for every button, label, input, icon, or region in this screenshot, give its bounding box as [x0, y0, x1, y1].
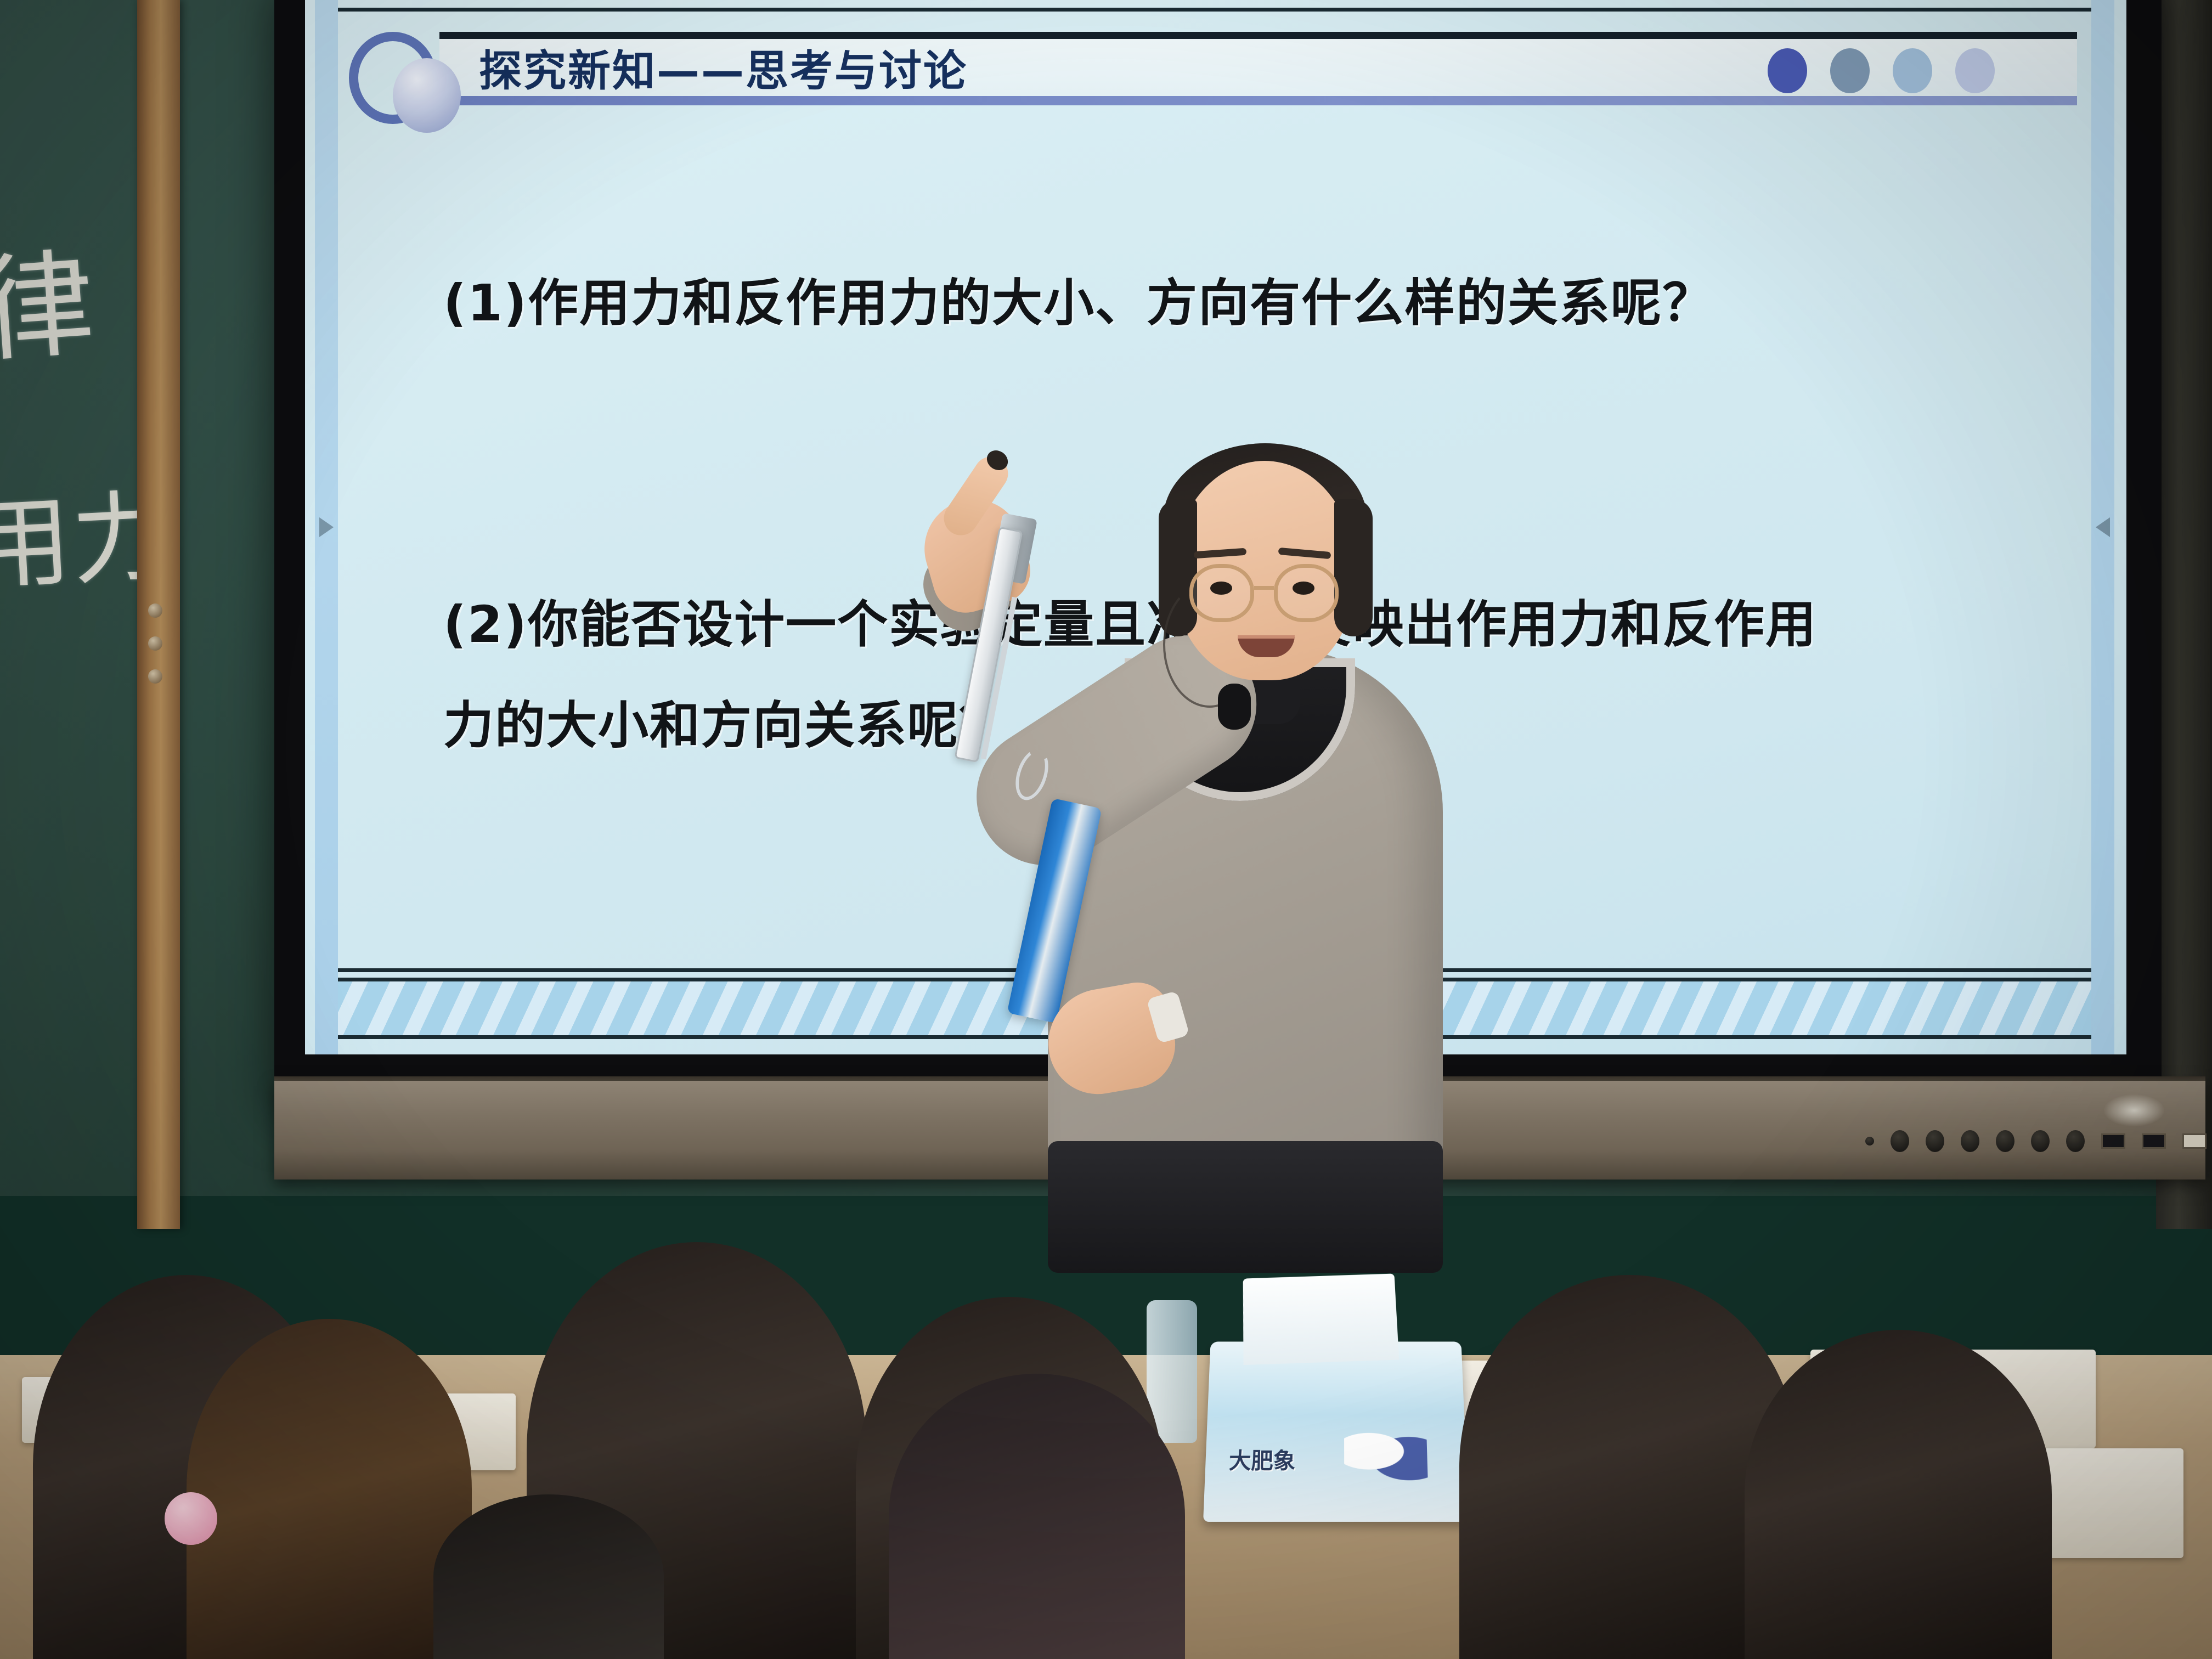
board-frame-right [2156, 0, 2212, 1229]
tissue-sheet [1243, 1273, 1400, 1365]
triangle-left-icon [2096, 517, 2110, 537]
teacher-hair-right [1334, 499, 1373, 636]
tissue-box[interactable]: 大肥象 [1203, 1341, 1469, 1521]
glasses-bridge [1254, 586, 1274, 590]
slide-nav-right[interactable] [2091, 0, 2114, 1054]
clip-microphone-icon [1218, 684, 1251, 730]
student-hairband [165, 1492, 217, 1545]
title-dot-3 [1893, 48, 1932, 93]
title-dot-4 [1955, 48, 1995, 93]
slide-nav-left[interactable] [315, 0, 338, 1054]
student-head [889, 1374, 1185, 1659]
student-rows: 大肥象 [0, 1119, 2212, 1659]
page-title: 探究新知——思考与讨论 [479, 37, 968, 98]
frame-screw [148, 636, 162, 651]
title-dot-1 [1768, 48, 1807, 93]
title-rule-bottom [439, 96, 2077, 105]
student-head [433, 1494, 664, 1659]
sphere-decoration-icon [393, 58, 461, 133]
frame-screw [148, 669, 162, 684]
title-dot-group [1768, 48, 1995, 93]
tissue-brand-label: 大肥象 [1228, 1443, 1296, 1475]
slide-title-bar: 探究新知——思考与讨论 [398, 16, 2077, 104]
classroom-scene: 律 用力 探究新知——思考与讨论 [0, 0, 2212, 1659]
question-1: (1)作用力和反作用力的大小、方向有什么样的关系呢？ [443, 262, 1714, 335]
title-dot-2 [1830, 48, 1870, 93]
triangle-right-icon [319, 517, 334, 537]
chalk-writing-1: 律 [0, 210, 100, 385]
frame-screw [148, 603, 162, 618]
student-head [187, 1319, 472, 1659]
teacher-eye-right [1293, 582, 1314, 595]
elephant-logo-icon [1344, 1421, 1428, 1482]
student-head [1745, 1330, 2052, 1659]
